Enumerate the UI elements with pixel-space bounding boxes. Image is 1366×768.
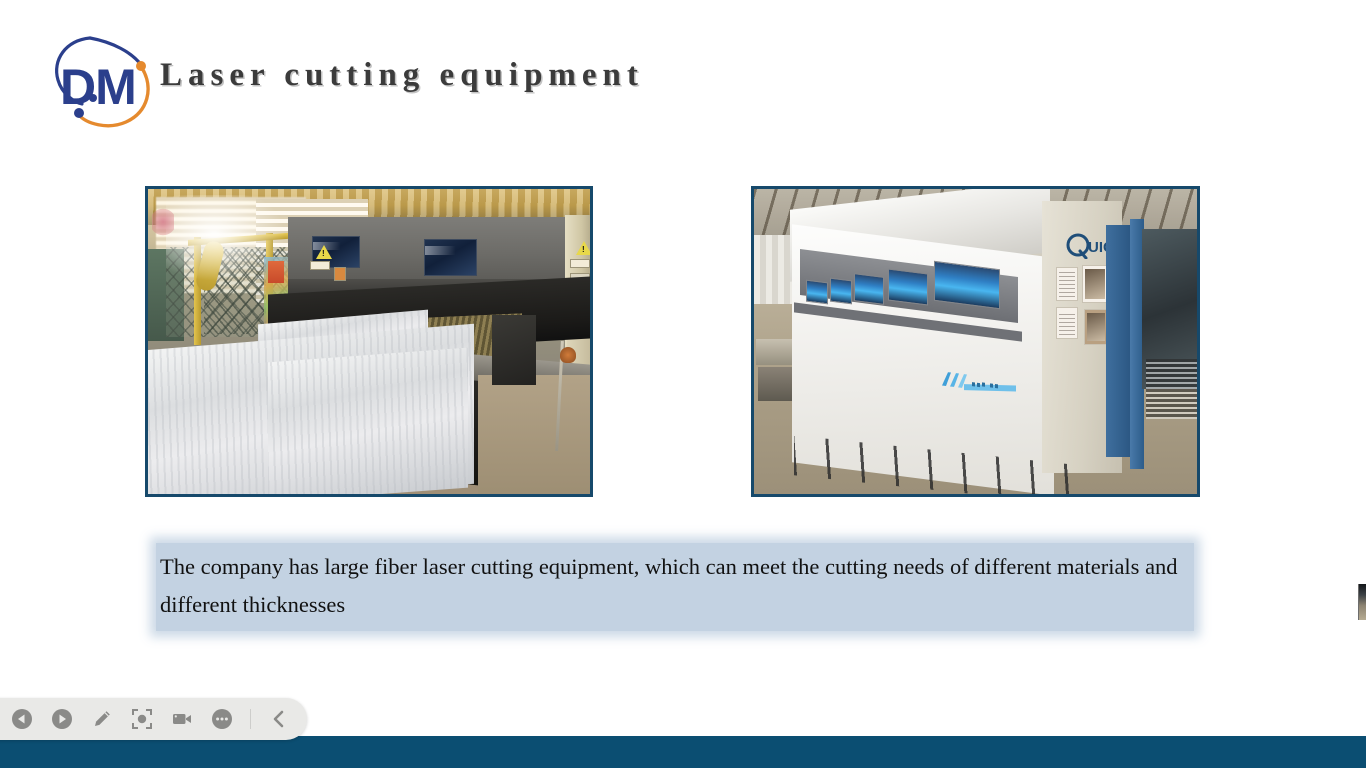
more-dots-icon bbox=[211, 708, 233, 730]
photo-1-content bbox=[148, 189, 590, 494]
chevron-left-icon bbox=[268, 708, 290, 730]
presentation-toolbar bbox=[0, 698, 307, 740]
previous-icon bbox=[11, 708, 33, 730]
next-slide-button[interactable] bbox=[50, 707, 74, 731]
previous-slide-button[interactable] bbox=[10, 707, 34, 731]
bottom-status-bar bbox=[0, 736, 1366, 768]
toolbar-divider bbox=[250, 709, 251, 729]
slide-header: DM Laser cutting equipment bbox=[0, 0, 1366, 150]
svg-text:DM: DM bbox=[60, 59, 136, 115]
dm-company-logo: DM bbox=[46, 26, 158, 134]
photo-enclosed-fiber-laser: UICK bbox=[751, 186, 1200, 497]
more-options-button[interactable] bbox=[210, 707, 234, 731]
next-icon bbox=[51, 708, 73, 730]
page-title: Laser cutting equipment bbox=[160, 57, 644, 94]
collapse-toolbar-button[interactable] bbox=[267, 707, 291, 731]
laser-pointer-button[interactable] bbox=[130, 707, 154, 731]
photo-laser-bed-steel-sheets bbox=[145, 186, 593, 497]
pen-icon bbox=[91, 708, 113, 730]
photo-2-content: UICK bbox=[754, 189, 1197, 494]
record-video-button[interactable] bbox=[170, 707, 194, 731]
video-camera-icon bbox=[171, 708, 193, 730]
slide-body-text: The company has large fiber laser cuttin… bbox=[156, 543, 1194, 631]
next-slide-edge-preview[interactable] bbox=[1358, 584, 1366, 620]
pen-tool-button[interactable] bbox=[90, 707, 114, 731]
spotlight-icon bbox=[131, 708, 153, 730]
presentation-slide: DM Laser cutting equipment bbox=[0, 0, 1366, 768]
